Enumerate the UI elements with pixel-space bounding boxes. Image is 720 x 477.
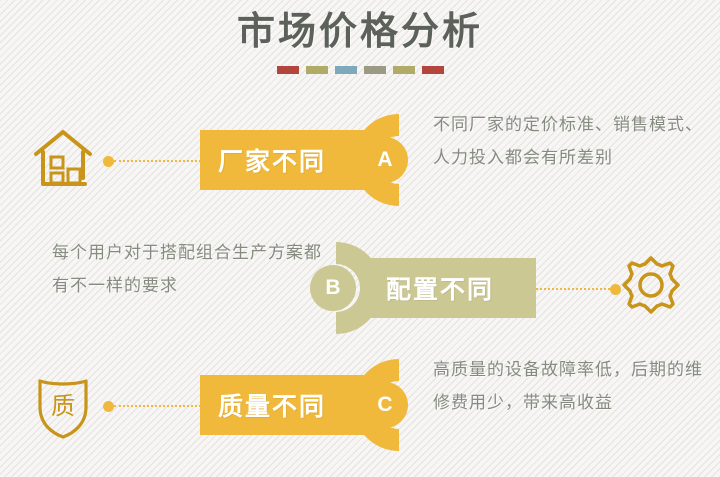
connector-line-b xyxy=(523,288,610,290)
connector-line-c xyxy=(114,405,201,407)
page-title: 市场价格分析 xyxy=(0,8,720,56)
label-bar-c[interactable]: 质量不同 xyxy=(200,375,368,435)
title-block: 市场价格分析 xyxy=(0,8,720,74)
body-text-a: 不同厂家的定价标准、销售模式、人力投入都会有所差别 xyxy=(433,108,703,174)
badge-letter-c: C xyxy=(362,382,408,428)
label-bar-b[interactable]: 配置不同 xyxy=(362,258,536,318)
title-dash-4 xyxy=(364,66,386,74)
body-text-c: 高质量的设备故障率低，后期的维修费用少，带来高收益 xyxy=(433,353,703,419)
badge-letter-a: A xyxy=(362,137,408,183)
label-text-a: 厂家不同 xyxy=(218,142,326,178)
shield-quality-icon: 质 xyxy=(30,371,96,441)
shield-glyph-text: 质 xyxy=(30,371,96,441)
house-icon xyxy=(30,126,96,194)
connector-dot-b xyxy=(610,284,621,295)
row-configuration-difference: 配置不同 B 每个用户对于搭配组合生产方案都有不一样的要求 xyxy=(0,228,720,348)
gear-icon xyxy=(620,254,682,316)
connector-dot-c xyxy=(103,401,114,412)
title-dash-row xyxy=(0,66,720,74)
label-text-b: 配置不同 xyxy=(386,270,494,306)
infographic-canvas: 市场价格分析 xyxy=(0,0,720,477)
connector-a xyxy=(103,156,201,166)
title-dash-3 xyxy=(335,66,357,74)
connector-dot-a xyxy=(103,156,114,167)
title-dash-6 xyxy=(422,66,444,74)
label-text-c: 质量不同 xyxy=(218,387,326,423)
badge-letter-b-text: B xyxy=(325,276,340,300)
row-quality-difference: 质 质量不同 C 高质量的设备故障率低，后期的维修费用少，带来高收益 xyxy=(0,345,720,465)
badge-letter-a-text: A xyxy=(377,148,392,172)
title-dash-2 xyxy=(306,66,328,74)
title-dash-5 xyxy=(393,66,415,74)
row-factory-difference: 厂家不同 A 不同厂家的定价标准、销售模式、人力投入都会有所差别 xyxy=(0,100,720,220)
label-bar-a[interactable]: 厂家不同 xyxy=(200,130,368,190)
connector-line-a xyxy=(114,160,201,162)
connector-c xyxy=(103,401,201,411)
badge-letter-c-text: C xyxy=(377,393,392,417)
title-dash-1 xyxy=(277,66,299,74)
body-text-b: 每个用户对于搭配组合生产方案都有不一样的要求 xyxy=(52,236,322,302)
connector-b xyxy=(523,284,621,294)
